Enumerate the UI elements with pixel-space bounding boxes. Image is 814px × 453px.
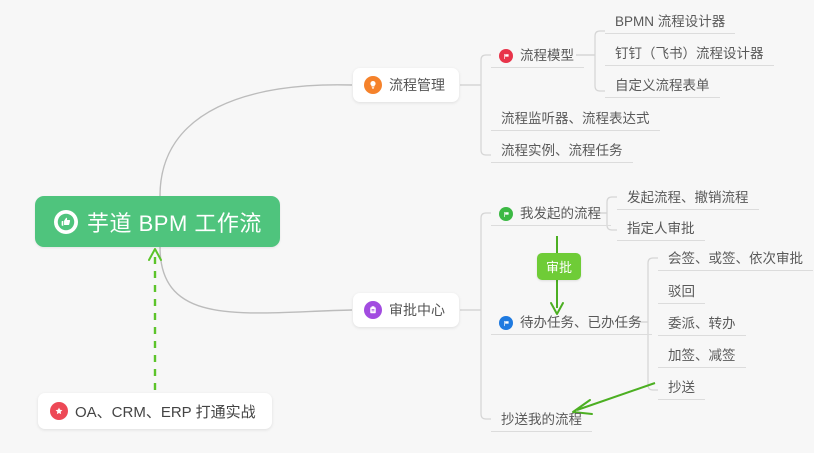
root-label: 芋道 BPM 工作流 bbox=[87, 206, 262, 238]
flag-icon bbox=[499, 316, 513, 330]
leaf-instance-task[interactable]: 流程实例、流程任务 bbox=[491, 137, 633, 163]
leaf-dingtalk-feishu-designer[interactable]: 钉钉（飞书）流程设计器 bbox=[605, 40, 774, 66]
leaf-process-model[interactable]: 流程模型 bbox=[491, 42, 584, 68]
leaf-label-todo-done-tasks: 待办任务、已办任务 bbox=[520, 315, 642, 331]
leaf-label-designated-approver: 指定人审批 bbox=[627, 221, 695, 237]
leaf-cc[interactable]: 抄送 bbox=[658, 374, 705, 400]
leaf-label-bpmn-designer: BPMN 流程设计器 bbox=[615, 14, 725, 30]
leaf-label-reject: 驳回 bbox=[668, 284, 695, 300]
leaf-label-start-cancel-process: 发起流程、撤销流程 bbox=[627, 190, 749, 206]
arrowhead-up-icon bbox=[149, 249, 161, 260]
card-label-oa-crm-erp-integration: OA、CRM、ERP 打通实战 bbox=[75, 401, 256, 422]
branch-node-process-management[interactable]: 流程管理 bbox=[353, 68, 459, 102]
branch-node-approval-center[interactable]: 审批中心 bbox=[353, 293, 459, 327]
document-icon bbox=[364, 301, 382, 319]
leaf-label-countersign-modes: 会签、或签、依次审批 bbox=[668, 251, 803, 267]
annotation-approval-pill-label: 审批 bbox=[546, 257, 572, 276]
leaf-reject[interactable]: 驳回 bbox=[658, 278, 705, 304]
leaf-bpmn-designer[interactable]: BPMN 流程设计器 bbox=[605, 8, 735, 34]
leaf-custom-process-form[interactable]: 自定义流程表单 bbox=[605, 72, 720, 98]
leaf-label-cc: 抄送 bbox=[668, 380, 695, 396]
root-node[interactable]: 芋道 BPM 工作流 bbox=[35, 196, 280, 247]
leaf-todo-done-tasks[interactable]: 待办任务、已办任务 bbox=[491, 309, 652, 335]
leaf-my-initiated-processes[interactable]: 我发起的流程 bbox=[491, 200, 611, 226]
edge-root-to-process-mgmt bbox=[160, 85, 352, 196]
leaf-label-cc-to-me: 抄送我的流程 bbox=[501, 412, 582, 428]
spine-process-model bbox=[595, 31, 605, 91]
flag-icon bbox=[499, 49, 513, 63]
leaf-label-process-model: 流程模型 bbox=[520, 48, 574, 64]
flag-icon bbox=[499, 207, 513, 221]
edge-root-to-approval-center bbox=[160, 247, 352, 313]
leaf-designated-approver[interactable]: 指定人审批 bbox=[617, 215, 705, 241]
leaf-delegate-transfer[interactable]: 委派、转办 bbox=[658, 310, 746, 336]
leaf-listener-expression[interactable]: 流程监听器、流程表达式 bbox=[491, 105, 660, 131]
leaf-countersign-modes[interactable]: 会签、或签、依次审批 bbox=[658, 245, 813, 271]
thumbs-up-icon bbox=[54, 210, 78, 234]
branch-label-approval-center: 审批中心 bbox=[389, 300, 445, 320]
annotation-approval-pill[interactable]: 审批 bbox=[537, 253, 581, 280]
leaf-label-custom-process-form: 自定义流程表单 bbox=[615, 78, 710, 94]
card-oa-crm-erp-integration[interactable]: OA、CRM、ERP 打通实战 bbox=[38, 393, 272, 429]
leaf-label-instance-task: 流程实例、流程任务 bbox=[501, 143, 623, 159]
star-icon bbox=[50, 402, 68, 420]
spine-approval-center bbox=[481, 213, 491, 419]
leaf-label-add-remove-sign: 加签、减签 bbox=[668, 348, 736, 364]
leaf-label-my-initiated-processes: 我发起的流程 bbox=[520, 206, 601, 222]
leaf-label-delegate-transfer: 委派、转办 bbox=[668, 316, 736, 332]
leaf-add-remove-sign[interactable]: 加签、减签 bbox=[658, 342, 746, 368]
spine-process-mgmt bbox=[481, 55, 491, 155]
leaf-label-dingtalk-feishu-designer: 钉钉（飞书）流程设计器 bbox=[615, 46, 764, 62]
mindmap-canvas: 芋道 BPM 工作流 流程管理 流程模型 BPMN 流程设计器 钉钉（飞书）流程… bbox=[0, 0, 814, 453]
branch-label-process-management: 流程管理 bbox=[389, 75, 445, 95]
lightbulb-icon bbox=[364, 76, 382, 94]
leaf-label-listener-expression: 流程监听器、流程表达式 bbox=[501, 111, 650, 127]
leaf-start-cancel-process[interactable]: 发起流程、撤销流程 bbox=[617, 184, 759, 210]
leaf-cc-to-me[interactable]: 抄送我的流程 bbox=[491, 406, 592, 432]
